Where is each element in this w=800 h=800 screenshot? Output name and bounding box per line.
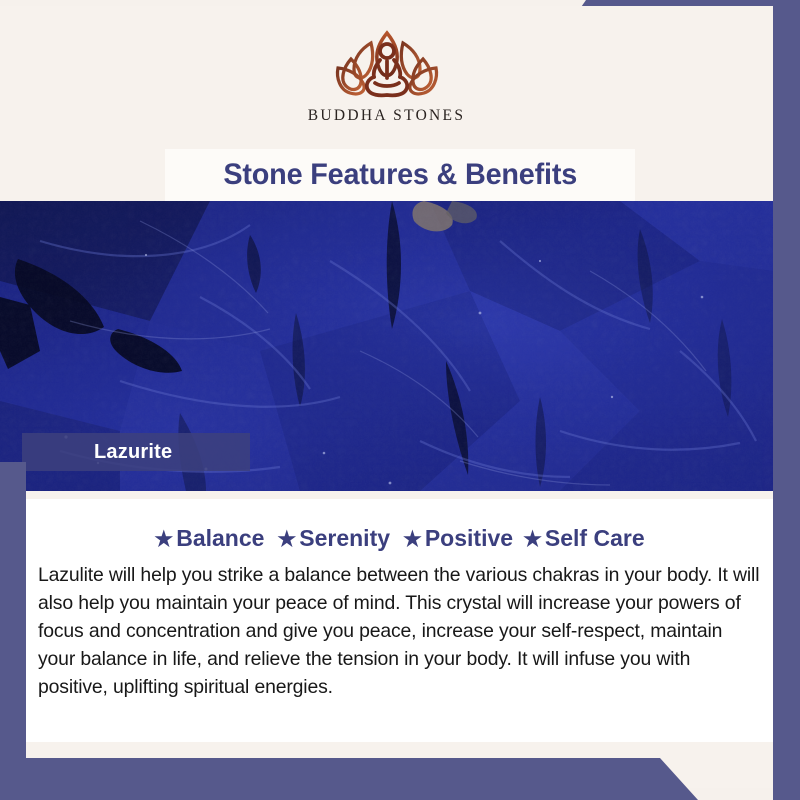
content-card: BUDDHA STONES Stone Features & Benefits [0,6,773,788]
star-icon: ★ [277,529,296,550]
keyword-balance: ★ Balance [154,525,264,552]
brand-name: BUDDHA STONES [308,107,466,125]
brand-logo: BUDDHA STONES [0,20,773,125]
keyword-label: Self Care [545,525,645,552]
stone-name-badge: Lazurite [22,433,250,471]
frame-rail-right [773,0,800,800]
brand-header: BUDDHA STONES [0,6,773,149]
infographic-poster: BUDDHA STONES Stone Features & Benefits [0,0,800,800]
keyword-self-care: ★ Self Care [523,525,645,552]
page-title: Stone Features & Benefits [223,158,577,192]
frame-rail-left [0,462,26,800]
star-icon: ★ [523,529,542,550]
star-icon: ★ [403,529,422,550]
keyword-label: Balance [176,525,264,552]
stone-name: Lazurite [94,441,172,464]
keyword-serenity: ★ Serenity [277,525,390,552]
keyword-list: ★ Balance ★ Serenity ★ Positive ★ Self C… [26,499,773,552]
keyword-label: Serenity [299,525,390,552]
description-text: Lazulite will help you strike a balance … [38,561,763,701]
title-band: Stone Features & Benefits [165,149,635,201]
star-icon: ★ [154,529,173,550]
description-panel: ★ Balance ★ Serenity ★ Positive ★ Self C… [26,499,773,742]
keyword-positive: ★ Positive [403,525,513,552]
lotus-meditation-icon [325,20,449,104]
keyword-label: Positive [425,525,513,552]
stone-photo: Lazurite [0,201,773,491]
